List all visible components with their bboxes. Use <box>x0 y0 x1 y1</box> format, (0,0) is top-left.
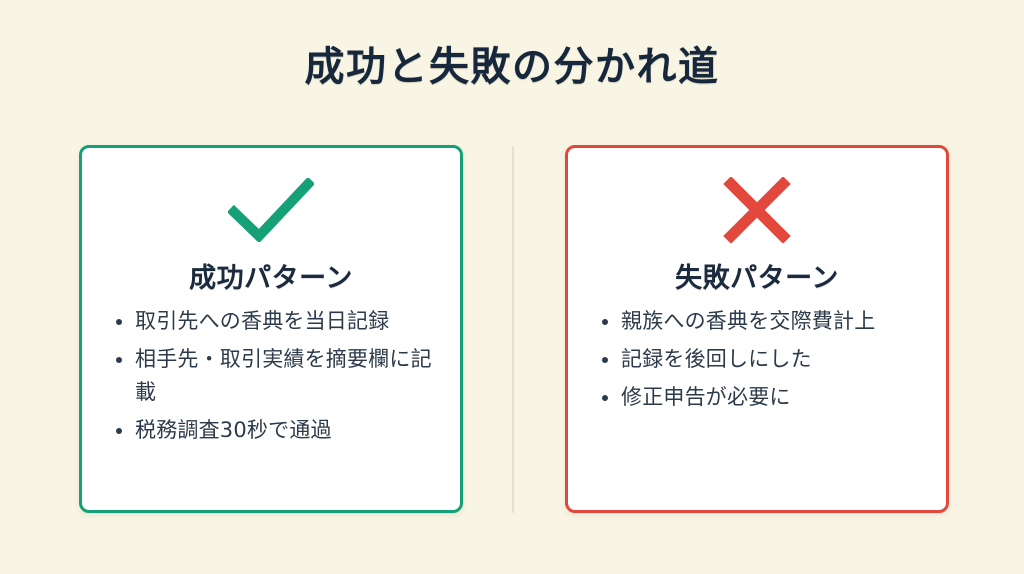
list-item-label: 記録を後回しにした <box>621 343 932 376</box>
bullet-dot-icon <box>116 428 122 434</box>
bullet-dot-icon <box>602 395 608 401</box>
bullet-dot-icon <box>602 319 608 325</box>
bullet-dot-icon <box>602 357 608 363</box>
failure-pattern-card: 失敗パターン 親族への香典を交際費計上 記録を後回しにした 修正申告が必要に <box>565 145 949 513</box>
list-item-label: 相手先・取引実績を摘要欄に記載 <box>135 343 446 409</box>
page-title: 成功と失敗の分かれ道 <box>0 45 1024 89</box>
bullet-dot-icon <box>116 319 122 325</box>
list-item: 税務調査30秒で通過 <box>114 414 446 447</box>
success-card-list: 取引先への香典を当日記録 相手先・取引実績を摘要欄に記載 税務調査30秒で通過 <box>82 305 460 452</box>
slide-canvas: 成功と失敗の分かれ道 成功パターン 取引先への香典を当日記録 相手先・取引実績を… <box>0 0 1024 574</box>
success-pattern-card: 成功パターン 取引先への香典を当日記録 相手先・取引実績を摘要欄に記載 税務調査… <box>79 145 463 513</box>
failure-card-list: 親族への香典を交際費計上 記録を後回しにした 修正申告が必要に <box>568 305 946 419</box>
list-item-label: 修正申告が必要に <box>621 381 932 414</box>
success-card-heading: 成功パターン <box>82 256 460 295</box>
list-item-label: 親族への香典を交際費計上 <box>621 305 932 338</box>
list-item: 記録を後回しにした <box>600 343 932 376</box>
bullet-dot-icon <box>116 357 122 363</box>
list-item-label: 税務調査30秒で通過 <box>135 414 446 447</box>
failure-card-heading: 失敗パターン <box>568 256 946 295</box>
list-item: 修正申告が必要に <box>600 381 932 414</box>
list-item-label: 取引先への香典を当日記録 <box>135 305 446 338</box>
check-icon <box>82 174 460 246</box>
list-item: 取引先への香典を当日記録 <box>114 305 446 338</box>
list-item: 親族への香典を交際費計上 <box>600 305 932 338</box>
vertical-divider <box>512 146 514 513</box>
list-item: 相手先・取引実績を摘要欄に記載 <box>114 343 446 409</box>
cross-icon <box>568 174 946 246</box>
